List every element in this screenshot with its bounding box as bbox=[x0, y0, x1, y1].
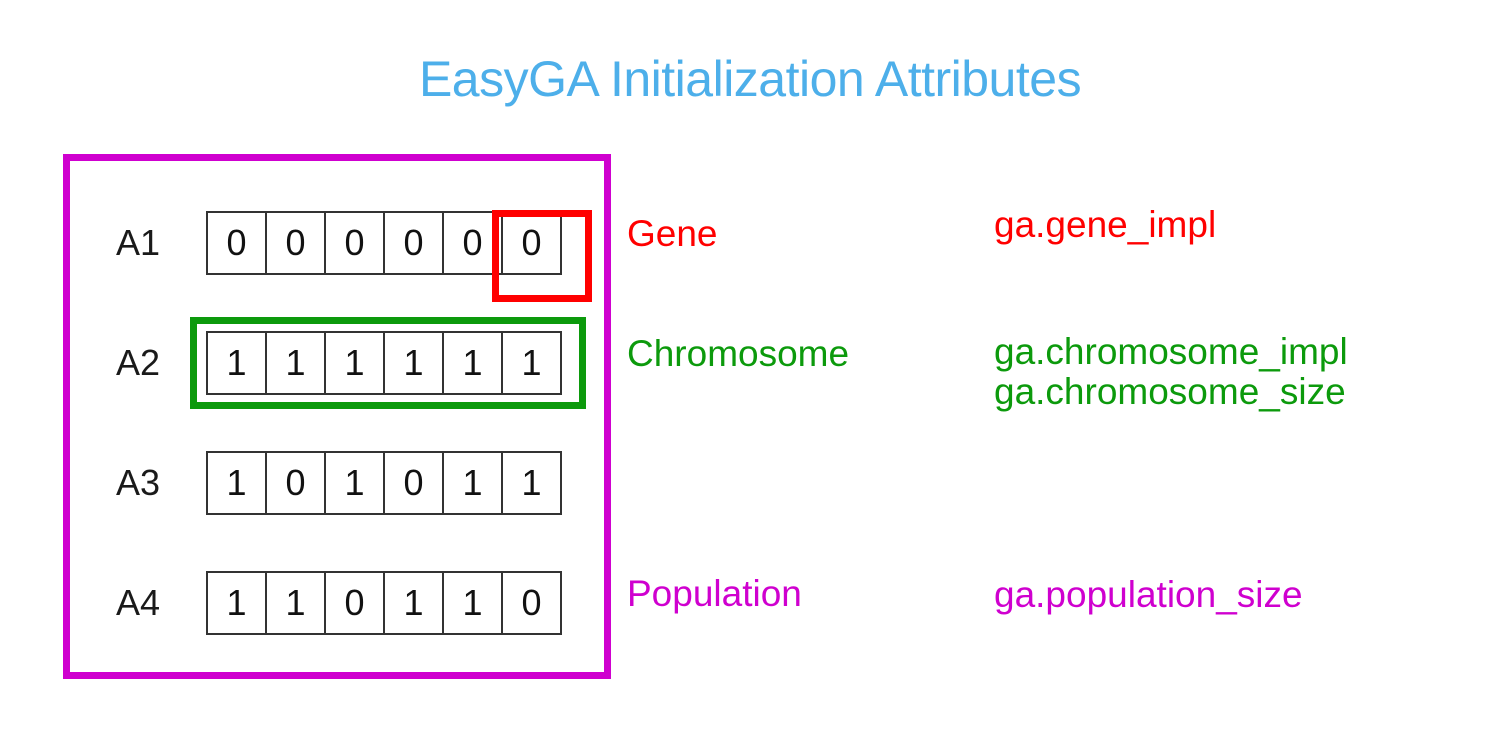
gene-cell[interactable]: 1 bbox=[501, 331, 562, 395]
gene-cell[interactable]: 1 bbox=[442, 331, 503, 395]
gene-cell[interactable]: 0 bbox=[265, 451, 326, 515]
legend-label-population: Population bbox=[627, 575, 802, 612]
gene-cell[interactable]: 0 bbox=[324, 571, 385, 635]
gene-strip-a3: 1 0 1 0 1 1 bbox=[206, 451, 560, 515]
gene-cell[interactable]: 0 bbox=[501, 571, 562, 635]
gene-cell[interactable]: 1 bbox=[383, 331, 444, 395]
gene-cell[interactable]: 0 bbox=[383, 451, 444, 515]
gene-cell[interactable]: 1 bbox=[442, 571, 503, 635]
gene-cell[interactable]: 1 bbox=[501, 451, 562, 515]
gene-cell[interactable]: 0 bbox=[324, 211, 385, 275]
gene-cell[interactable]: 1 bbox=[206, 571, 267, 635]
gene-cell[interactable]: 0 bbox=[206, 211, 267, 275]
gene-cell[interactable]: 1 bbox=[324, 451, 385, 515]
attribute-population-size: ga.population_size bbox=[994, 575, 1303, 615]
gene-cell[interactable]: 1 bbox=[265, 331, 326, 395]
attribute-chromosome-impl: ga.chromosome_impl bbox=[994, 332, 1348, 372]
row-label-a3: A3 bbox=[116, 465, 160, 501]
gene-cell[interactable]: 1 bbox=[265, 571, 326, 635]
chromosome-row-a3: A3 1 0 1 0 1 1 bbox=[70, 423, 618, 543]
attribute-gene-impl: ga.gene_impl bbox=[994, 205, 1216, 245]
gene-cell[interactable]: 0 bbox=[442, 211, 503, 275]
gene-cell[interactable]: 1 bbox=[383, 571, 444, 635]
population-box: A1 0 0 0 0 0 0 A2 1 1 1 1 1 1 A3 1 0 1 0 bbox=[63, 154, 611, 679]
chromosome-row-a1: A1 0 0 0 0 0 0 bbox=[70, 183, 618, 303]
row-label-a1: A1 bbox=[116, 225, 160, 261]
gene-cell[interactable]: 1 bbox=[206, 331, 267, 395]
gene-strip-a4: 1 1 0 1 1 0 bbox=[206, 571, 560, 635]
gene-cell[interactable]: 1 bbox=[206, 451, 267, 515]
page-title: EasyGA Initialization Attributes bbox=[0, 50, 1500, 108]
gene-cell[interactable]: 0 bbox=[265, 211, 326, 275]
gene-cell[interactable]: 0 bbox=[383, 211, 444, 275]
gene-cell[interactable]: 1 bbox=[324, 331, 385, 395]
legend-label-gene: Gene bbox=[627, 215, 718, 252]
row-label-a4: A4 bbox=[116, 585, 160, 621]
gene-strip-a2: 1 1 1 1 1 1 bbox=[206, 331, 560, 395]
gene-cell[interactable]: 1 bbox=[442, 451, 503, 515]
attribute-chromosome-size: ga.chromosome_size bbox=[994, 372, 1348, 412]
gene-cell[interactable]: 0 bbox=[501, 211, 562, 275]
chromosome-row-a2: A2 1 1 1 1 1 1 bbox=[70, 303, 618, 423]
legend-label-chromosome: Chromosome bbox=[627, 335, 849, 372]
gene-strip-a1: 0 0 0 0 0 0 bbox=[206, 211, 560, 275]
attribute-chromosome-group: ga.chromosome_impl ga.chromosome_size bbox=[994, 332, 1348, 412]
chromosome-row-a4: A4 1 1 0 1 1 0 bbox=[70, 543, 618, 663]
row-label-a2: A2 bbox=[116, 345, 160, 381]
